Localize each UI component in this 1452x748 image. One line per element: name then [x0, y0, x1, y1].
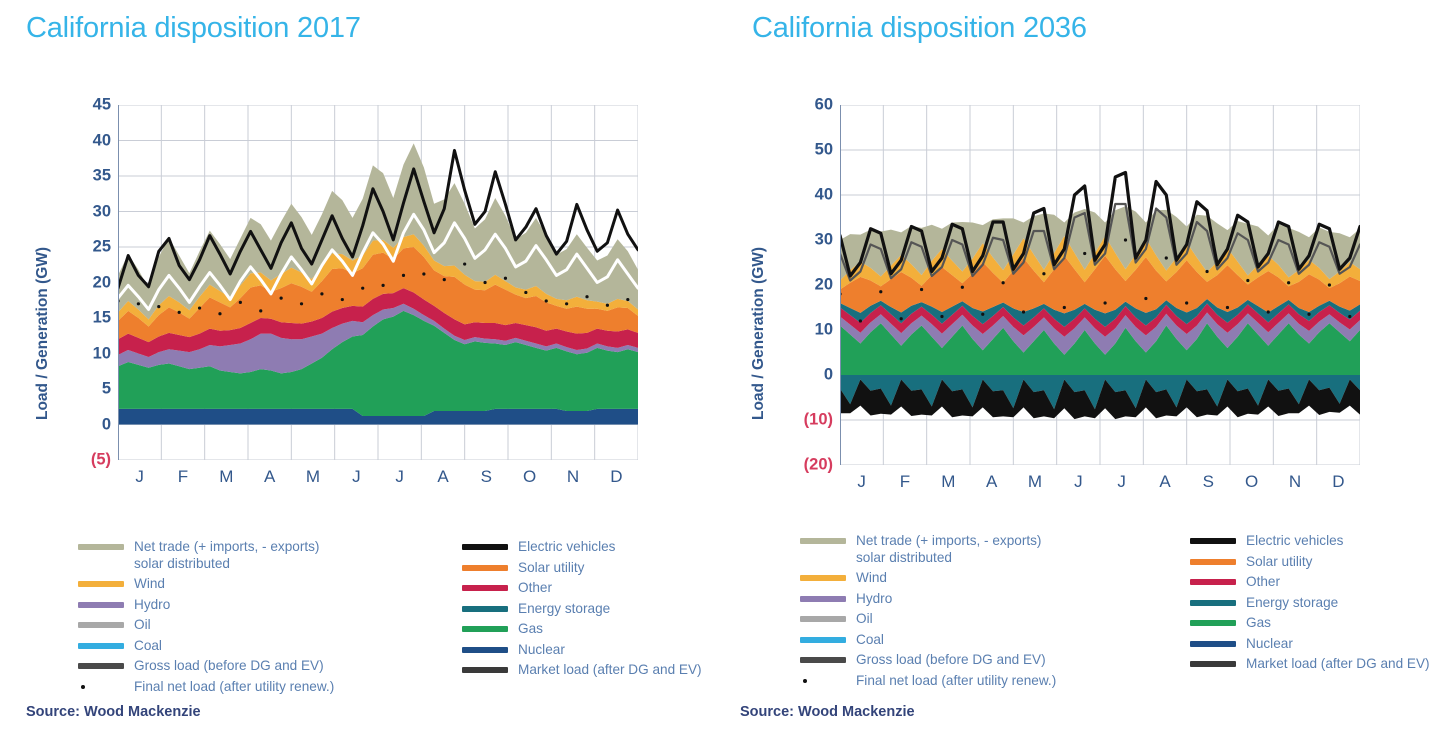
x-axis-tick: N: [1289, 472, 1301, 492]
legend-item-label: Net trade (+ imports, - exports) solar d…: [856, 532, 1041, 566]
legend-item-label: Gross load (before DG and EV): [134, 657, 324, 674]
legend-item[interactable]: Nuclear: [462, 641, 762, 662]
x-axis-tick: M: [1028, 472, 1042, 492]
y-axis-tick: 10: [93, 344, 111, 363]
x-axis-tick: F: [900, 472, 910, 492]
legend-item[interactable]: Final net load (after utility renew.): [78, 678, 408, 699]
y-axis-tick: (5): [91, 451, 111, 470]
legend-item-label: Gas: [518, 620, 543, 637]
x-axis-tick: J: [1117, 472, 1126, 492]
legend-swatch-icon: [1190, 661, 1236, 667]
page-title-2017: California disposition 2017: [26, 12, 361, 45]
plot-area-2017: 454035302520151050(5) JFMAMJJASOND: [118, 105, 638, 460]
legend-item-label: Solar utility: [1246, 553, 1312, 570]
legend-item-label: Gas: [1246, 614, 1271, 631]
legend-item[interactable]: Market load (after DG and EV): [462, 661, 762, 682]
legend-item[interactable]: Solar utility: [462, 559, 762, 580]
legend-item-label: Energy storage: [518, 600, 610, 617]
legend-item[interactable]: Gross load (before DG and EV): [78, 657, 408, 678]
y-axis-tick: 30: [815, 231, 833, 250]
x-axis-tick: A: [986, 472, 997, 492]
legend-column-load: Electric vehiclesSolar utilityOtherEnerg…: [462, 538, 762, 682]
legend-item[interactable]: Oil: [800, 610, 1140, 631]
legend-dot-marker-icon: [78, 684, 124, 690]
page-title-2036: California disposition 2036: [752, 12, 1087, 45]
x-axis-tick: J: [857, 472, 866, 492]
legend-dot-marker-icon: [800, 678, 846, 684]
legend-item-label: Wind: [856, 569, 887, 586]
legend-item-label: Oil: [134, 616, 151, 633]
legend-swatch-icon: [800, 575, 846, 581]
legend-item[interactable]: Solar utility: [1190, 553, 1452, 574]
y-axis-tick: 0: [824, 366, 833, 385]
x-axis-tick: O: [1245, 472, 1258, 492]
legend-item-label: Oil: [856, 610, 873, 627]
chart-panel-2017: California disposition 2017 Load / Gener…: [0, 0, 726, 748]
y-axis-tick: 40: [815, 186, 833, 205]
chart-panel-2036: California disposition 2036 Load / Gener…: [726, 0, 1452, 748]
legend-item[interactable]: Final net load (after utility renew.): [800, 672, 1140, 693]
legend-swatch-icon: [78, 544, 124, 550]
legend-item-label: Final net load (after utility renew.): [134, 678, 334, 695]
legend-column-generation: Net trade (+ imports, - exports) solar d…: [800, 532, 1140, 692]
legend-item-label: Coal: [856, 631, 884, 648]
legend-swatch-icon: [78, 622, 124, 628]
x-axis-tick: J: [352, 467, 361, 487]
source-note-2017: Source: Wood Mackenzie: [26, 704, 201, 720]
legend-item[interactable]: Coal: [78, 637, 408, 658]
y-axis-tick: 20: [815, 276, 833, 295]
y-axis-tick: 15: [93, 309, 111, 328]
x-axis-tick: F: [178, 467, 188, 487]
legend-item-label: Nuclear: [518, 641, 565, 658]
y-axis-tick: 0: [102, 415, 111, 434]
y-axis-tick: (10): [804, 411, 833, 430]
legend-swatch-icon: [78, 581, 124, 587]
legend-swatch-icon: [462, 647, 508, 653]
legend-swatch-icon: [800, 538, 846, 544]
y-axis-label-2017: Load / Generation (GW): [34, 247, 52, 420]
legend-item[interactable]: Wind: [800, 569, 1140, 590]
legend-swatch-icon: [78, 602, 124, 608]
legend-item-label: Nuclear: [1246, 635, 1293, 652]
legend-item-label: Hydro: [856, 590, 892, 607]
y-axis-tick: 10: [815, 321, 833, 340]
legend-item-label: Other: [1246, 573, 1280, 590]
legend-item-label: Hydro: [134, 596, 170, 613]
legend-column-load: Electric vehiclesSolar utilityOtherEnerg…: [1190, 532, 1452, 676]
legend-swatch-icon: [462, 544, 508, 550]
y-axis-tick: 35: [93, 167, 111, 186]
legend-item-label: Market load (after DG and EV): [1246, 655, 1430, 672]
legend-item-label: Electric vehicles: [518, 538, 615, 555]
x-axis-tick: A: [264, 467, 275, 487]
x-axis-tick: M: [306, 467, 320, 487]
legend-item[interactable]: Gross load (before DG and EV): [800, 651, 1140, 672]
legend-item-label: Market load (after DG and EV): [518, 661, 702, 678]
legend-swatch-icon: [800, 657, 846, 663]
x-axis-tick: M: [219, 467, 233, 487]
legend-swatch-icon: [1190, 620, 1236, 626]
legend-item-label: Energy storage: [1246, 594, 1338, 611]
legend-swatch-icon: [1190, 641, 1236, 647]
legend-item-label: Gross load (before DG and EV): [856, 651, 1046, 668]
x-axis-tick: N: [567, 467, 579, 487]
legend-swatch-icon: [1190, 579, 1236, 585]
x-axis-tick: M: [941, 472, 955, 492]
legend-swatch-icon: [462, 585, 508, 591]
y-axis-tick: 50: [815, 141, 833, 160]
legend-item-label: Wind: [134, 575, 165, 592]
x-axis-tick: J: [395, 467, 404, 487]
x-axis-tick: D: [610, 467, 622, 487]
legend-item[interactable]: Market load (after DG and EV): [1190, 655, 1452, 676]
x-axis-tick: A: [437, 467, 448, 487]
chart-canvas-2017: [118, 105, 638, 460]
x-axis-tick: S: [481, 467, 492, 487]
y-axis-tick: 30: [93, 202, 111, 221]
legend-swatch-icon: [800, 616, 846, 622]
chart-canvas-2036: [840, 105, 1360, 465]
legend-item[interactable]: Electric vehicles: [462, 538, 762, 559]
legend-item[interactable]: Oil: [78, 616, 408, 637]
legend-swatch-icon: [800, 596, 846, 602]
legend-swatch-icon: [78, 663, 124, 669]
legend-item[interactable]: Energy storage: [462, 600, 762, 621]
legend-swatch-icon: [462, 565, 508, 571]
y-axis-tick: 40: [93, 131, 111, 150]
legend-swatch-icon: [1190, 600, 1236, 606]
legend-swatch-icon: [800, 637, 846, 643]
y-axis-label-2036: Load / Generation (GW): [750, 247, 768, 420]
legend-item-label: Final net load (after utility renew.): [856, 672, 1056, 689]
legend-item[interactable]: Hydro: [78, 596, 408, 617]
x-axis-tick: S: [1203, 472, 1214, 492]
legend-item-label: Other: [518, 579, 552, 596]
legend-swatch-icon: [1190, 559, 1236, 565]
x-axis-tick: J: [1074, 472, 1083, 492]
legend-item[interactable]: Wind: [78, 575, 408, 596]
legend-swatch-icon: [1190, 538, 1236, 544]
legend-item[interactable]: Electric vehicles: [1190, 532, 1452, 553]
y-axis-tick: 20: [93, 273, 111, 292]
x-axis-tick: O: [523, 467, 536, 487]
legend-item[interactable]: Other: [462, 579, 762, 600]
legend-item-label: Coal: [134, 637, 162, 654]
y-axis-tick: (20): [804, 456, 833, 475]
y-axis-tick: 45: [93, 96, 111, 115]
legend-item[interactable]: Energy storage: [1190, 594, 1452, 615]
legend-item-label: Solar utility: [518, 559, 584, 576]
legend-item[interactable]: Other: [1190, 573, 1452, 594]
plot-area-2036: 6050403020100(10)(20) JFMAMJJASOND: [840, 105, 1360, 465]
legend-item[interactable]: Gas: [462, 620, 762, 641]
y-axis-tick: 5: [102, 380, 111, 399]
legend-column-generation: Net trade (+ imports, - exports) solar d…: [78, 538, 408, 698]
legend-item-label: Electric vehicles: [1246, 532, 1343, 549]
x-axis-tick: J: [135, 467, 144, 487]
legend-item-label: Net trade (+ imports, - exports) solar d…: [134, 538, 319, 572]
x-axis-tick: D: [1332, 472, 1344, 492]
legend-item[interactable]: Net trade (+ imports, - exports) solar d…: [800, 532, 1140, 569]
legend-swatch-icon: [462, 606, 508, 612]
legend-swatch-icon: [462, 626, 508, 632]
legend-item[interactable]: Hydro: [800, 590, 1140, 611]
y-axis-tick: 60: [815, 96, 833, 115]
y-axis-tick: 25: [93, 238, 111, 257]
source-note-2036: Source: Wood Mackenzie: [740, 704, 915, 720]
legend-swatch-icon: [78, 643, 124, 649]
legend-item[interactable]: Nuclear: [1190, 635, 1452, 656]
legend-item[interactable]: Coal: [800, 631, 1140, 652]
slide-root: California disposition 2017 Load / Gener…: [0, 0, 1452, 748]
x-axis-tick: A: [1159, 472, 1170, 492]
legend-item[interactable]: Gas: [1190, 614, 1452, 635]
legend-item[interactable]: Net trade (+ imports, - exports) solar d…: [78, 538, 408, 575]
legend-swatch-icon: [462, 667, 508, 673]
